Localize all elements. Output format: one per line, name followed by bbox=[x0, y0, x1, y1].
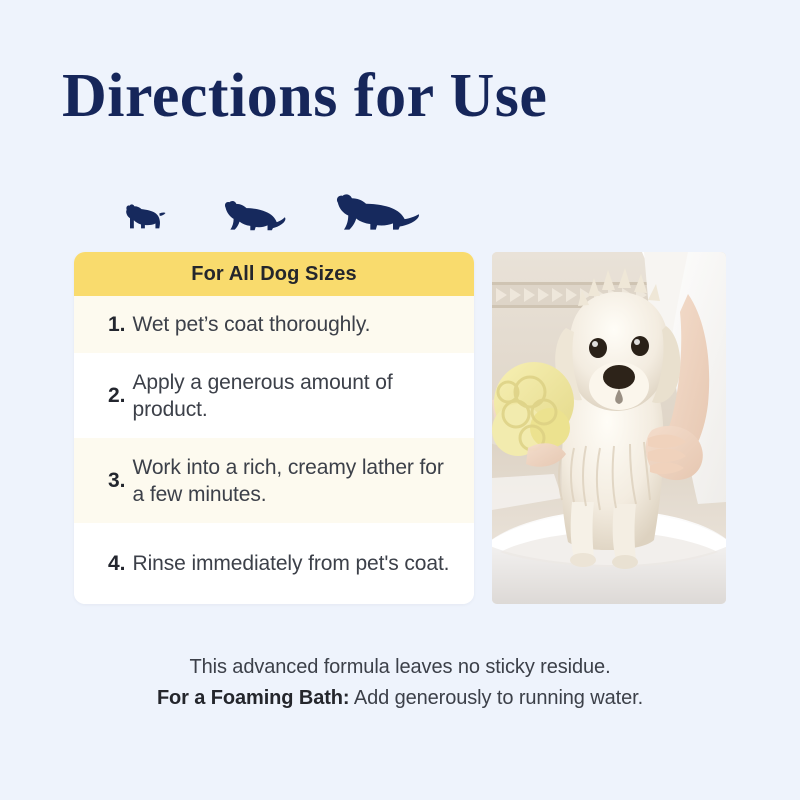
step-number: 1. bbox=[108, 312, 126, 338]
step-text: Apply a generous amount of product. bbox=[133, 369, 456, 423]
large-dog-silhouette-icon bbox=[328, 194, 420, 232]
page-title: Directions for Use bbox=[62, 60, 742, 132]
footer-line-2: For a Foaming Bath: Add generously to ru… bbox=[0, 683, 800, 714]
directions-for-use-page: Directions for Use For All Dog Sizes 1. … bbox=[0, 0, 800, 800]
list-item: 2. Apply a generous amount of product. bbox=[74, 353, 474, 438]
step-number: 2. bbox=[108, 383, 126, 409]
footer-note: This advanced formula leaves no sticky r… bbox=[0, 652, 800, 714]
card-header-label: For All Dog Sizes bbox=[191, 263, 356, 286]
steps-list: 1. Wet pet’s coat thoroughly. 2. Apply a… bbox=[74, 296, 474, 604]
step-text: Work into a rich, creamy lather for a fe… bbox=[133, 454, 456, 508]
list-item: 4. Rinse immediately from pet's coat. bbox=[74, 523, 474, 604]
step-number: 4. bbox=[108, 551, 126, 577]
small-dog-silhouette-icon bbox=[118, 201, 166, 232]
step-text: Rinse immediately from pet's coat. bbox=[133, 550, 450, 577]
puppy-bath-photo bbox=[492, 252, 726, 604]
step-text: Wet pet’s coat thoroughly. bbox=[133, 311, 371, 338]
dog-size-icon-row bbox=[118, 172, 428, 232]
card-header-bar: For All Dog Sizes bbox=[74, 252, 474, 296]
step-number: 3. bbox=[108, 468, 126, 494]
foaming-bath-label: For a Foaming Bath: bbox=[157, 687, 350, 709]
puppy-bath-illustration bbox=[492, 252, 726, 604]
foaming-bath-instruction: Add generously to running water. bbox=[349, 687, 643, 709]
medium-dog-silhouette-icon bbox=[218, 199, 288, 232]
loofah bbox=[492, 362, 574, 456]
footer-line-1: This advanced formula leaves no sticky r… bbox=[0, 652, 800, 683]
list-item: 1. Wet pet’s coat thoroughly. bbox=[74, 296, 474, 353]
instructions-card: For All Dog Sizes 1. Wet pet’s coat thor… bbox=[74, 252, 474, 604]
list-item: 3. Work into a rich, creamy lather for a… bbox=[74, 438, 474, 523]
